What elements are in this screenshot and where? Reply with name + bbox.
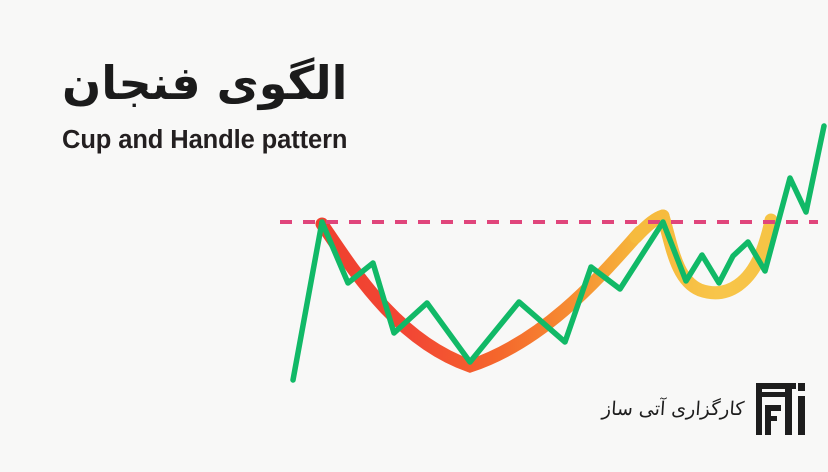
brand-lockup: کارگزاری آتی ساز [620, 378, 810, 440]
price-line [293, 126, 824, 380]
ati-logo-mark-icon [756, 383, 810, 435]
diagram-canvas: الگوی فنجان Cup and Handle pattern [0, 0, 828, 472]
brand-name: کارگزاری آتی ساز [601, 400, 745, 419]
